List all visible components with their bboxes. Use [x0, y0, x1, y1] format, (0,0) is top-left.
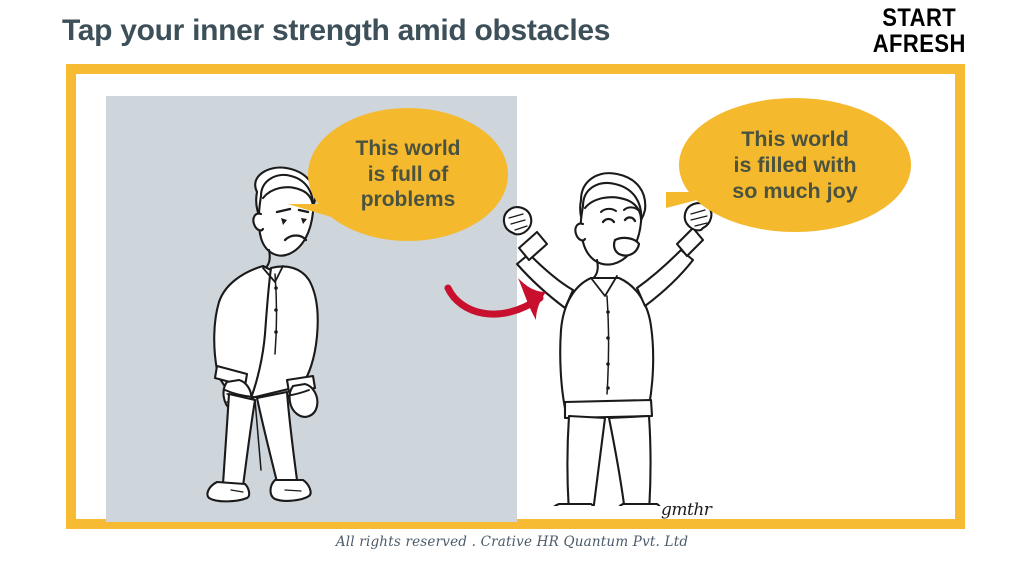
- illustration-frame: This world is full of problems This worl…: [66, 64, 965, 529]
- happy-man-arm-right: [637, 250, 693, 306]
- happy-man-cuff-left: [519, 232, 547, 260]
- left-bubble-line-1: This world: [356, 136, 461, 162]
- sad-man-hand-right: [290, 384, 318, 417]
- happy-man-belt: [565, 400, 652, 418]
- right-bubble-line-1: This world: [732, 126, 857, 152]
- right-speech-bubble-text: This world is filled with so much joy: [720, 126, 869, 205]
- brand-logo-line-1: START: [873, 6, 966, 32]
- happy-man-button-4: [606, 386, 610, 390]
- artist-signature: gmthr: [661, 500, 711, 520]
- left-bubble-line-2: is full of: [356, 162, 461, 188]
- sad-man-button-1: [274, 286, 278, 290]
- brand-logo-line-2: AFRESH: [873, 32, 966, 58]
- right-bubble-line-2: is filled with: [732, 152, 857, 178]
- happy-man-mouth: [614, 238, 639, 256]
- happy-man-fist-left: [504, 207, 531, 234]
- left-speech-bubble: This world is full of problems: [308, 108, 508, 241]
- happy-man-button-2: [606, 336, 610, 340]
- transition-arrow-icon: [444, 272, 564, 332]
- happy-man-shoe-left: [548, 504, 596, 506]
- happy-man-button-3: [606, 362, 610, 366]
- sad-man-button-2: [274, 308, 278, 312]
- left-speech-bubble-text: This world is full of problems: [344, 136, 473, 213]
- sad-man-leg-left: [223, 394, 255, 486]
- sad-man-button-3: [274, 330, 278, 334]
- happy-man-button-1: [606, 310, 610, 314]
- left-bubble-line-3: problems: [356, 187, 461, 213]
- page-title: Tap your inner strength amid obstacles: [62, 14, 610, 48]
- brand-logo: START AFRESH: [873, 6, 966, 57]
- happy-man-leg-right: [609, 416, 651, 506]
- right-speech-bubble: This world is filled with so much joy: [679, 98, 911, 232]
- happy-man-leg-left: [568, 416, 606, 506]
- right-bubble-line-3: so much joy: [732, 178, 857, 204]
- footer-credit: All rights reserved . Crative HR Quantum…: [0, 534, 1024, 550]
- happy-man-shoe-right: [616, 504, 663, 506]
